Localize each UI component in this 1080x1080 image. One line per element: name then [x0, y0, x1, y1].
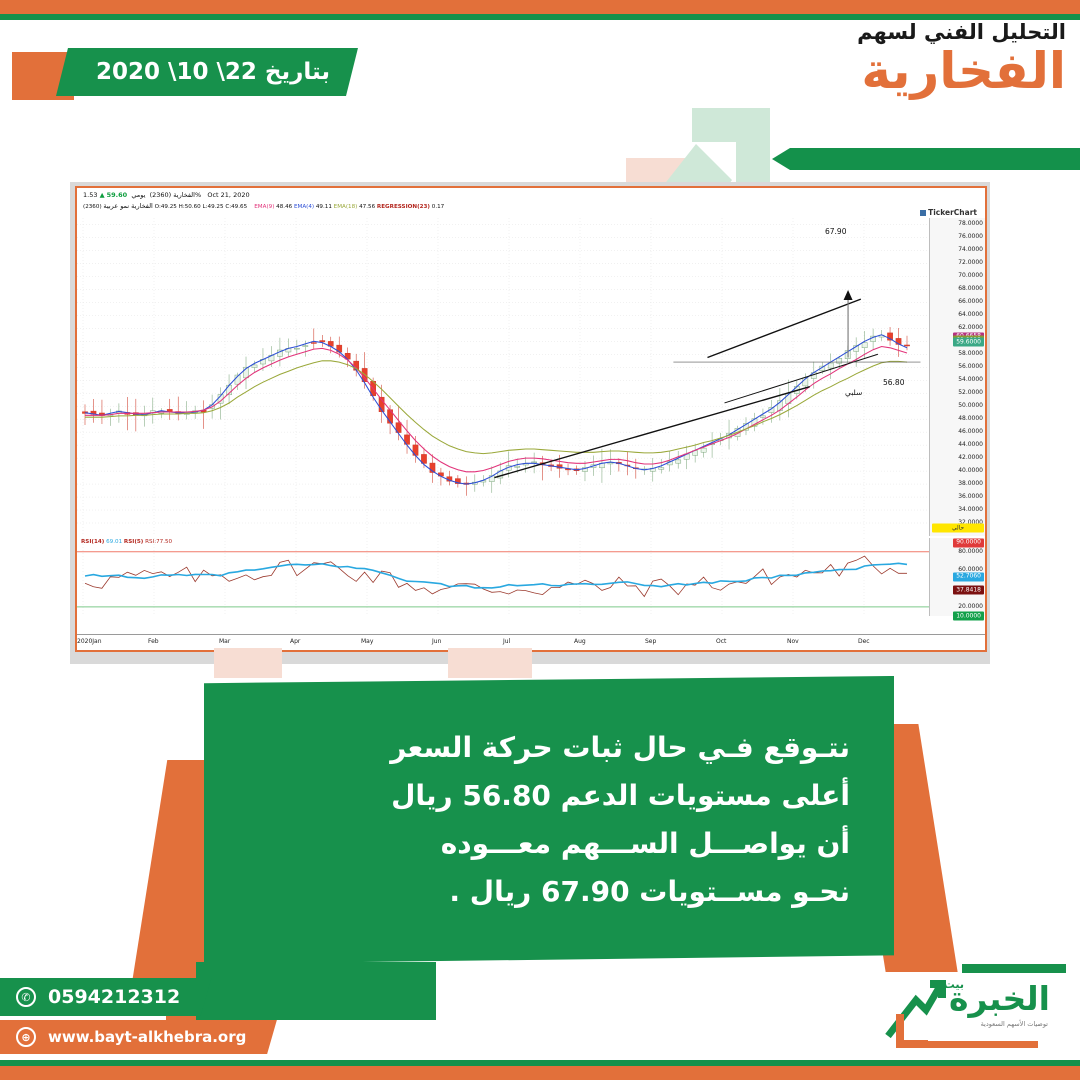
tickerchart-mark-icon: [920, 210, 926, 216]
support-price-annotation: 56.80: [883, 378, 904, 387]
price-axis-tick: 48.0000: [958, 416, 983, 422]
price-plot-area: 67.90 56.80 سلبي: [77, 218, 929, 536]
chart-ohlc-line: الفخارية نمو عربية (2360) O:49.25 H:50.6…: [83, 202, 981, 212]
price-axis-tick: 72.0000: [958, 260, 983, 266]
whatsapp-icon: ✆: [16, 987, 36, 1007]
top-orange-bar: [0, 0, 1080, 14]
quote-line-1: نتـوقع فـي حال ثبات حركة السعر: [248, 724, 850, 772]
price-axis: 78.000076.000074.000072.000070.000068.00…: [929, 218, 985, 536]
price-axis-tick: 34.0000: [958, 507, 983, 513]
rsi-axis-badge-0: 90.0000: [953, 538, 984, 547]
price-axis-tick: 36.0000: [958, 494, 983, 500]
chart-symbol-ar: الفخارية: [173, 191, 195, 199]
price-axis-current-badge: حالي: [932, 524, 984, 533]
date-axis-tick: May: [361, 638, 373, 645]
rsi-axis-badge-1: 52.7060: [953, 572, 984, 581]
chart-last-price: 59.60: [107, 191, 128, 199]
whatsapp-contact[interactable]: ✆ 0594212312: [0, 978, 212, 1016]
indicator-regression-name: REGRESSION(23): [377, 204, 430, 210]
chart-header: الفخارية (2360) يومي 59.60 ▲ 1.53% Oct 2…: [77, 188, 985, 218]
logo-arrow-icon: [882, 974, 952, 1048]
price-chart-svg: [77, 218, 929, 536]
rsi-axis: 90.000080.000060.000020.000010.000090.00…: [929, 538, 985, 616]
price-axis-tick: 58.0000: [958, 351, 983, 357]
logo-bar-bottom: [928, 1041, 1038, 1048]
rsi-axis-tick: 80.0000: [958, 549, 983, 555]
chart-quote-line: الفخارية (2360) يومي 59.60 ▲ 1.53% Oct 2…: [83, 191, 981, 200]
rsi-axis-badge-3: 10.0000: [953, 612, 984, 621]
price-axis-tick: 52.0000: [958, 390, 983, 396]
indicator-regression-value: 0.17: [432, 204, 444, 210]
price-axis-tick: 62.0000: [958, 325, 983, 331]
price-axis-tick: 78.0000: [958, 221, 983, 227]
header-title-block: التحليل الفني لسهم الفخارية: [857, 22, 1066, 98]
website-link[interactable]: ⊕ www.bayt-alkhebra.org: [0, 1020, 277, 1054]
date-axis-tick: Apr: [290, 638, 300, 645]
price-axis-tick: 40.0000: [958, 468, 983, 474]
rsi5-value: RSI:77.50: [145, 539, 172, 545]
price-axis-tick: 54.0000: [958, 377, 983, 383]
chart-market-ar: يومي: [131, 191, 145, 199]
price-axis-tick: 68.0000: [958, 286, 983, 292]
tickerchart-logo: TickerChart: [920, 208, 977, 217]
rsi14-value: 69.01: [106, 539, 122, 545]
chart-card: الفخارية (2360) يومي 59.60 ▲ 1.53% Oct 2…: [75, 186, 987, 652]
footer-green-block: [196, 962, 436, 1020]
date-badge-label: بتاريخ 22\ 10\ 2020: [96, 59, 330, 85]
chart-ohlc-symbol-ar: الفخارية نمو عربية: [103, 202, 152, 210]
price-axis-tick: 44.0000: [958, 442, 983, 448]
quote-line-3: أن يواصـــل الســـهم معـــوده: [248, 820, 850, 868]
rsi14-name: RSI(14): [81, 539, 104, 545]
rsi-chart-svg: [77, 538, 929, 616]
date-axis-tick: Jun: [432, 638, 441, 645]
indicator-ema18-name: EMA(18): [334, 204, 358, 210]
date-badge: بتاريخ 22\ 10\ 2020: [56, 48, 358, 96]
date-axis-tick: Sep: [645, 638, 656, 645]
date-axis-tick: Feb: [148, 638, 159, 645]
rsi5-name: RSI(5): [124, 539, 143, 545]
indicator-ema4-name: EMA(4): [294, 204, 314, 210]
rsi-panel: RSI(14) 69.01 RSI(5) RSI:77.50 90.000080…: [77, 538, 985, 616]
chart-high: H:50.60: [179, 204, 201, 210]
indicator-ema9-value: 48.46: [276, 204, 292, 210]
logo-bar-top: [962, 964, 1066, 973]
chart-symbol-code: (2360): [150, 191, 172, 199]
date-axis-tick: 2020Jan: [77, 638, 102, 645]
price-axis-tick: 42.0000: [958, 455, 983, 461]
logo-tagline: توصيات الأسهم السعودية: [981, 1020, 1048, 1028]
website-url: www.bayt-alkhebra.org: [48, 1028, 246, 1046]
price-axis-badge-3: 59.6000: [953, 338, 984, 347]
date-axis-tick: Aug: [574, 638, 586, 645]
globe-icon: ⊕: [16, 1027, 36, 1047]
logo-word-main: الخبرة: [949, 982, 1050, 1015]
price-axis-tick: 64.0000: [958, 312, 983, 318]
indicator-ema9-name: EMA(9): [254, 204, 274, 210]
indicator-ema4-value: 49.11: [316, 204, 332, 210]
chart-ohlc-code: (2360): [83, 204, 102, 210]
bias-annotation-ar: سلبي: [845, 388, 862, 397]
quote-green-panel: نتـوقع فـي حال ثبات حركة السعر أعلى مستو…: [204, 676, 894, 964]
phone-number: 0594212312: [48, 986, 180, 1008]
rsi-plot-area: RSI(14) 69.01 RSI(5) RSI:77.50: [77, 538, 929, 616]
poster-canvas: التحليل الفني لسهم الفخارية بتاريخ 22\ 1…: [0, 0, 1080, 1080]
page-title: الفخارية: [857, 45, 1066, 98]
rsi-legend: RSI(14) 69.01 RSI(5) RSI:77.50: [81, 539, 172, 545]
date-axis-tick: Nov: [787, 638, 799, 645]
price-axis-tick: 74.0000: [958, 247, 983, 253]
indicator-ema18-value: 47.56: [359, 204, 375, 210]
date-axis-tick: Mar: [219, 638, 230, 645]
price-axis-tick: 38.0000: [958, 481, 983, 487]
header-subtitle: التحليل الفني لسهم: [857, 22, 1066, 43]
chart-close: C:49.65: [225, 204, 247, 210]
tickerchart-label: TickerChart: [928, 208, 977, 217]
price-axis-tick: 70.0000: [958, 273, 983, 279]
quote-block: نتـوقع فـي حال ثبات حركة السعر أعلى مستو…: [150, 672, 940, 982]
header-green-wedge: [790, 148, 1080, 170]
date-axis-tick: Jul: [503, 638, 510, 645]
target-price-annotation: 67.90: [825, 227, 846, 236]
price-axis-tick: 50.0000: [958, 403, 983, 409]
date-axis-tick: Oct: [716, 638, 726, 645]
rsi-axis-badge-2: 37.8418: [953, 586, 984, 595]
chart-open: O:49.25: [155, 204, 177, 210]
quote-line-4: نحـو مســتويات 67.90 ريال .: [248, 868, 850, 916]
date-axis-tick: Dec: [858, 638, 870, 645]
up-arrow-icon: ▲: [100, 191, 105, 199]
price-axis-tick: 56.0000: [958, 364, 983, 370]
bottom-orange-bar: [0, 1066, 1080, 1080]
price-panel: 67.90 56.80 سلبي 78.000076.000074.000072…: [77, 218, 985, 536]
price-axis-tick: 66.0000: [958, 299, 983, 305]
price-axis-tick: 76.0000: [958, 234, 983, 240]
chart-quote-date: Oct 21, 2020: [207, 191, 249, 199]
chart-plot-wrapper: 67.90 56.80 سلبي 78.000076.000074.000072…: [77, 218, 985, 650]
brand-logo: بيت الخبرة توصيات الأسهم السعودية: [876, 964, 1066, 1056]
rsi-axis-tick: 20.0000: [958, 604, 983, 610]
chart-low: L:49.25: [203, 204, 224, 210]
price-axis-tick: 46.0000: [958, 429, 983, 435]
quote-line-2: أعلى مستويات الدعم 56.80 ريال: [248, 772, 850, 820]
